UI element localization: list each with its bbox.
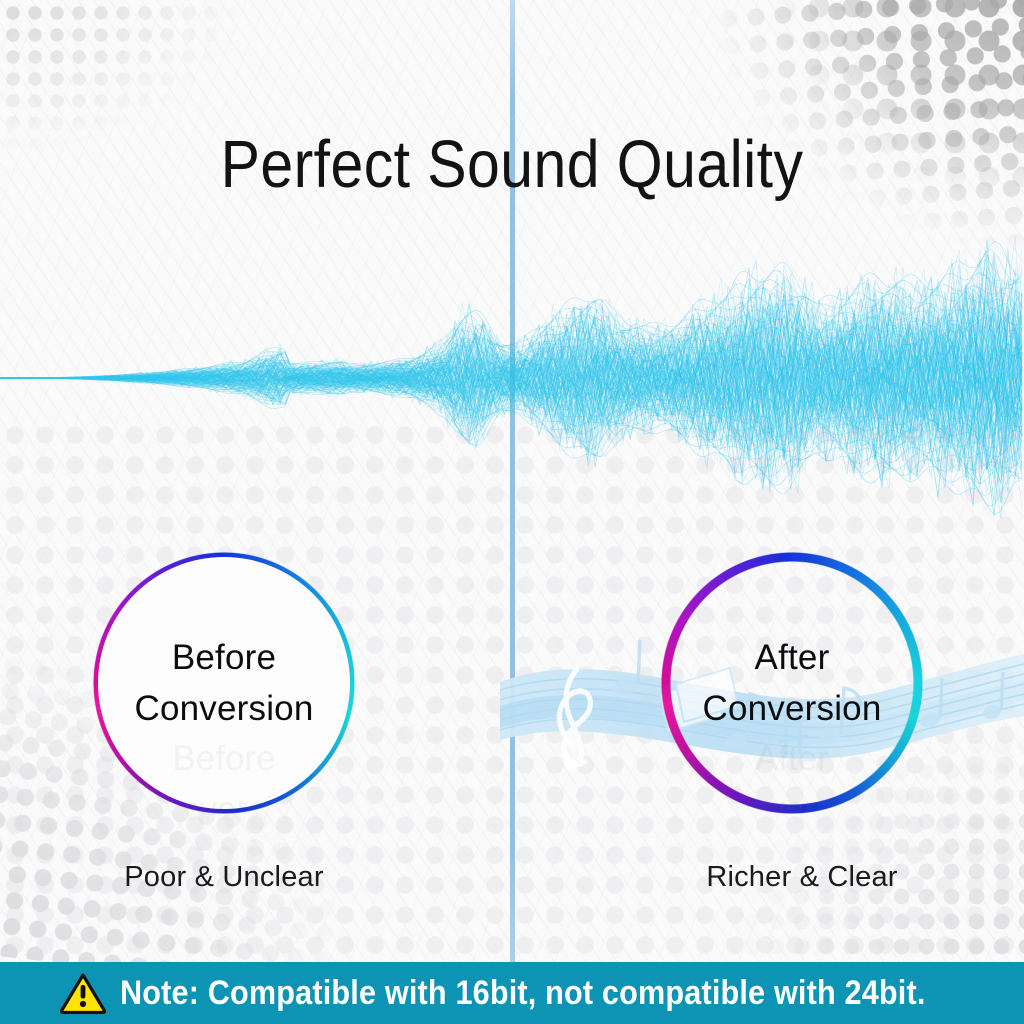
after-caption: Richer & Clear	[602, 861, 1002, 894]
audio-waveform-icon	[0, 228, 1024, 518]
before-label-line2: Conversion	[134, 683, 313, 734]
after-circle-label: After Conversion	[702, 632, 881, 735]
before-conversion-circle: Before Conversion Before Conversion	[93, 552, 355, 814]
halftone-dots-icon	[734, 0, 1024, 240]
after-label-line1: After	[702, 632, 881, 683]
before-label-line1: Before	[134, 632, 313, 683]
before-circle-ghost-label: Before Conversion	[98, 733, 350, 809]
after-circle-ghost-label: After Conversion	[666, 733, 918, 809]
page-title: Perfect Sound Quality	[61, 126, 962, 203]
note-banner: Note: Compatible with 16bit, not compati…	[0, 962, 1024, 1024]
after-label-line2: Conversion	[702, 683, 881, 734]
after-conversion-circle: After Conversion After Conversion	[661, 552, 923, 814]
warning-triangle-icon	[60, 972, 106, 1014]
before-circle-inner: Before Conversion Before Conversion	[98, 557, 350, 809]
before-caption: Poor & Unclear	[24, 861, 424, 894]
note-banner-text: Note: Compatible with 16bit, not compati…	[120, 974, 926, 1013]
product-infographic: Perfect Sound Quality	[0, 0, 1024, 1024]
treble-clef-icon	[559, 668, 590, 771]
before-circle-label: Before Conversion	[134, 632, 313, 735]
after-circle-inner: After Conversion After Conversion	[666, 557, 918, 809]
